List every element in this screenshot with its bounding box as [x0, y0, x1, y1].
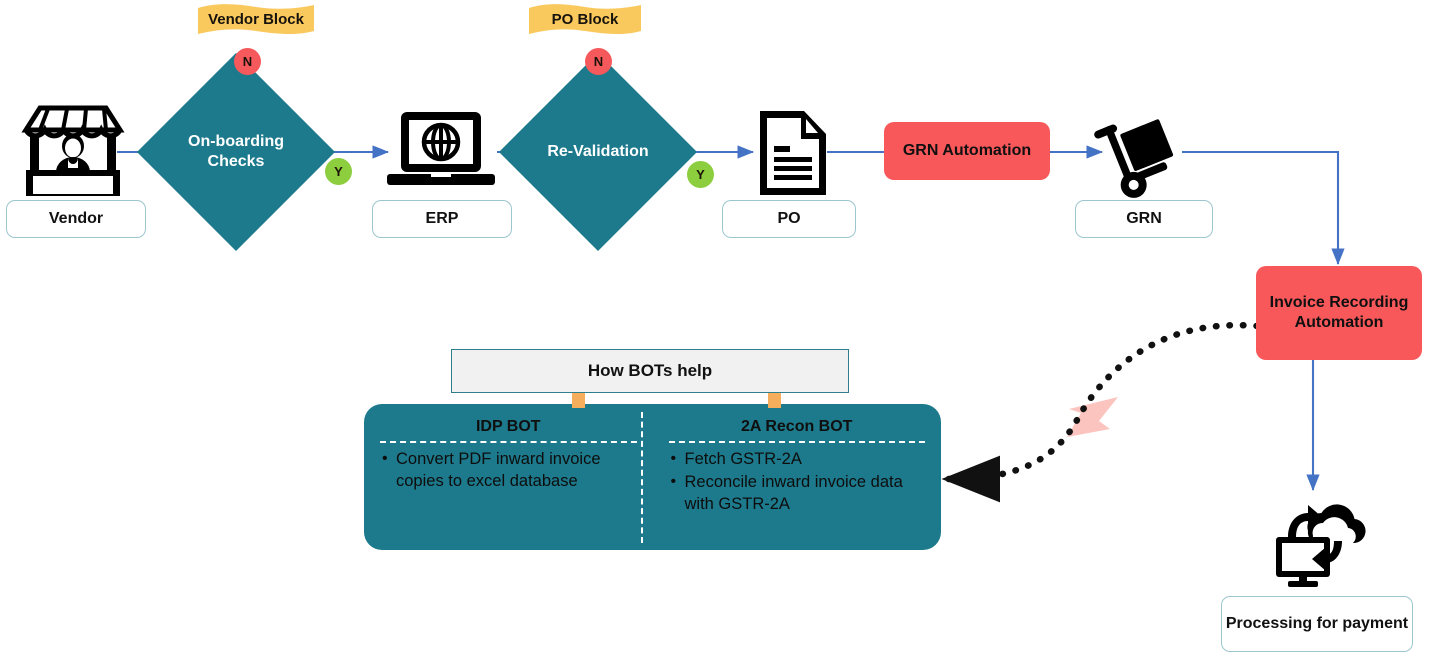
- bot-panel: IDP BOT Convert PDF inward invoice copie…: [364, 404, 941, 550]
- caption-po-text: PO: [777, 209, 800, 228]
- caption-po: PO: [722, 200, 856, 238]
- bot-column-idp-title: IDP BOT: [380, 418, 637, 443]
- decision-onboarding-label: On-boarding Checks: [184, 132, 288, 173]
- list-item: Convert PDF inward invoice copies to exc…: [380, 449, 637, 493]
- decision-onboarding-checks[interactable]: On-boarding Checks: [166, 82, 306, 222]
- caption-erp-text: ERP: [426, 209, 459, 228]
- market-stall-icon: [18, 100, 128, 200]
- badge-onboarding-yes-text: Y: [334, 164, 343, 179]
- badge-vendor-block-n-text: N: [243, 54, 252, 69]
- caption-vendor: Vendor: [6, 200, 146, 238]
- bot-column-2a-recon-list: Fetch GSTR-2A Reconcile inward invoice d…: [669, 449, 926, 516]
- caption-erp: ERP: [372, 200, 512, 238]
- laptop-globe-icon: [387, 110, 495, 195]
- vendor-block-banner: Vendor Block: [196, 3, 316, 39]
- badge-revalidation-yes-text: Y: [696, 167, 705, 182]
- list-item: Reconcile inward invoice data with GSTR-…: [669, 472, 926, 516]
- badge-onboarding-yes: Y: [325, 158, 352, 185]
- badge-vendor-block-n: N: [234, 48, 261, 75]
- bot-panel-divider: [641, 412, 643, 543]
- bot-panel-header: How BOTs help: [451, 349, 849, 393]
- process-invoice-recording-label: Invoice Recording Automation: [1256, 293, 1422, 334]
- list-item: Fetch GSTR-2A: [669, 449, 926, 471]
- document-icon: [756, 108, 830, 198]
- bot-column-idp-list: Convert PDF inward invoice copies to exc…: [380, 449, 637, 493]
- caption-processing-text: Processing for payment: [1226, 614, 1408, 633]
- bot-panel-header-text: How BOTs help: [588, 361, 712, 381]
- po-block-banner: PO Block: [527, 3, 643, 39]
- badge-revalidation-yes: Y: [687, 161, 714, 188]
- process-grn-automation[interactable]: GRN Automation: [884, 122, 1050, 180]
- process-grn-automation-label: GRN Automation: [903, 141, 1031, 161]
- caption-processing-for-payment: Processing for payment: [1221, 596, 1413, 652]
- vendor-block-label: Vendor Block: [208, 11, 304, 31]
- caption-grn-text: GRN: [1126, 209, 1162, 228]
- badge-po-block-n: N: [585, 48, 612, 75]
- flag-decoration: [1067, 397, 1118, 437]
- badge-po-block-n-text: N: [594, 54, 603, 69]
- decision-re-validation[interactable]: Re-Validation: [528, 82, 668, 222]
- cloud-sync-monitor-icon: [1270, 495, 1366, 587]
- po-block-label: PO Block: [552, 11, 619, 31]
- caption-grn: GRN: [1075, 200, 1213, 238]
- bot-column-2a-recon: 2A Recon BOT Fetch GSTR-2A Reconcile inw…: [653, 404, 942, 550]
- bot-column-2a-recon-title: 2A Recon BOT: [669, 418, 926, 443]
- process-invoice-recording-automation[interactable]: Invoice Recording Automation: [1256, 266, 1422, 360]
- bot-column-idp: IDP BOT Convert PDF inward invoice copie…: [364, 404, 653, 550]
- caption-vendor-text: Vendor: [49, 209, 103, 228]
- wire-invoice-to-bot-panel: [948, 325, 1257, 479]
- diagram-canvas: Vendor Block N On-boarding Checks Y Vend…: [0, 0, 1429, 665]
- decision-re-validation-label: Re-Validation: [546, 142, 650, 162]
- hand-truck-icon: [1093, 112, 1189, 198]
